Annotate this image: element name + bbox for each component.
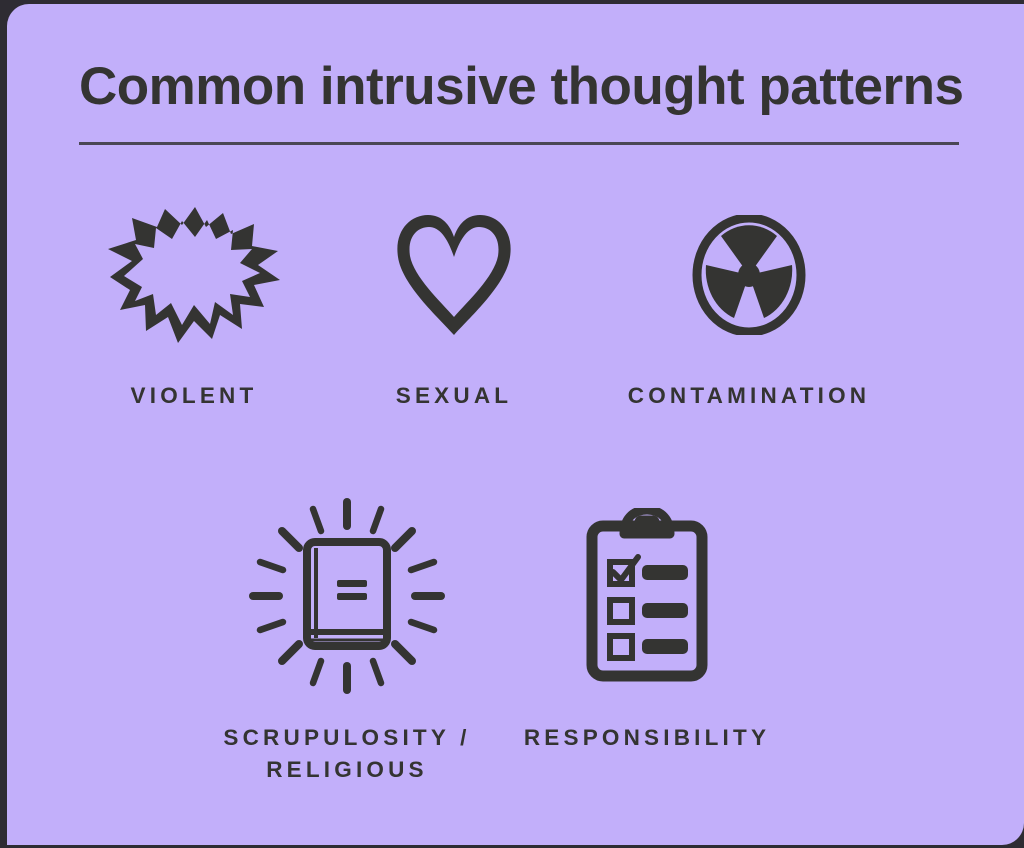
clipboard-checklist-icon bbox=[586, 496, 708, 696]
pattern-label: SCRUPULOSITY / RELIGIOUS bbox=[223, 722, 470, 786]
heart-icon bbox=[394, 200, 514, 350]
pattern-card-scrupulosity: SCRUPULOSITY / RELIGIOUS bbox=[197, 496, 497, 786]
pattern-label: SEXUAL bbox=[396, 380, 512, 412]
slide-frame: Common intrusive thought patterns VIOLEN… bbox=[0, 0, 1024, 848]
starburst-icon bbox=[102, 200, 286, 350]
glowing-book-icon bbox=[249, 496, 445, 696]
pattern-card-sexual: SEXUAL bbox=[309, 200, 599, 412]
pattern-card-contamination: CONTAMINATION bbox=[599, 200, 899, 412]
title-divider bbox=[79, 142, 959, 145]
pattern-row-bottom: SCRUPULOSITY / RELIGIOUS bbox=[197, 496, 817, 786]
pattern-label: VIOLENT bbox=[131, 380, 258, 412]
radiation-icon bbox=[691, 200, 807, 350]
slide-panel: Common intrusive thought patterns VIOLEN… bbox=[7, 4, 1024, 845]
page-title: Common intrusive thought patterns bbox=[79, 58, 963, 115]
pattern-label: CONTAMINATION bbox=[628, 380, 871, 412]
pattern-row-top: VIOLENT SEXUAL bbox=[79, 200, 963, 412]
pattern-card-responsibility: RESPONSIBILITY bbox=[497, 496, 797, 754]
pattern-label: RESPONSIBILITY bbox=[524, 722, 770, 754]
pattern-card-violent: VIOLENT bbox=[79, 200, 309, 412]
slide-header: Common intrusive thought patterns bbox=[79, 58, 963, 145]
